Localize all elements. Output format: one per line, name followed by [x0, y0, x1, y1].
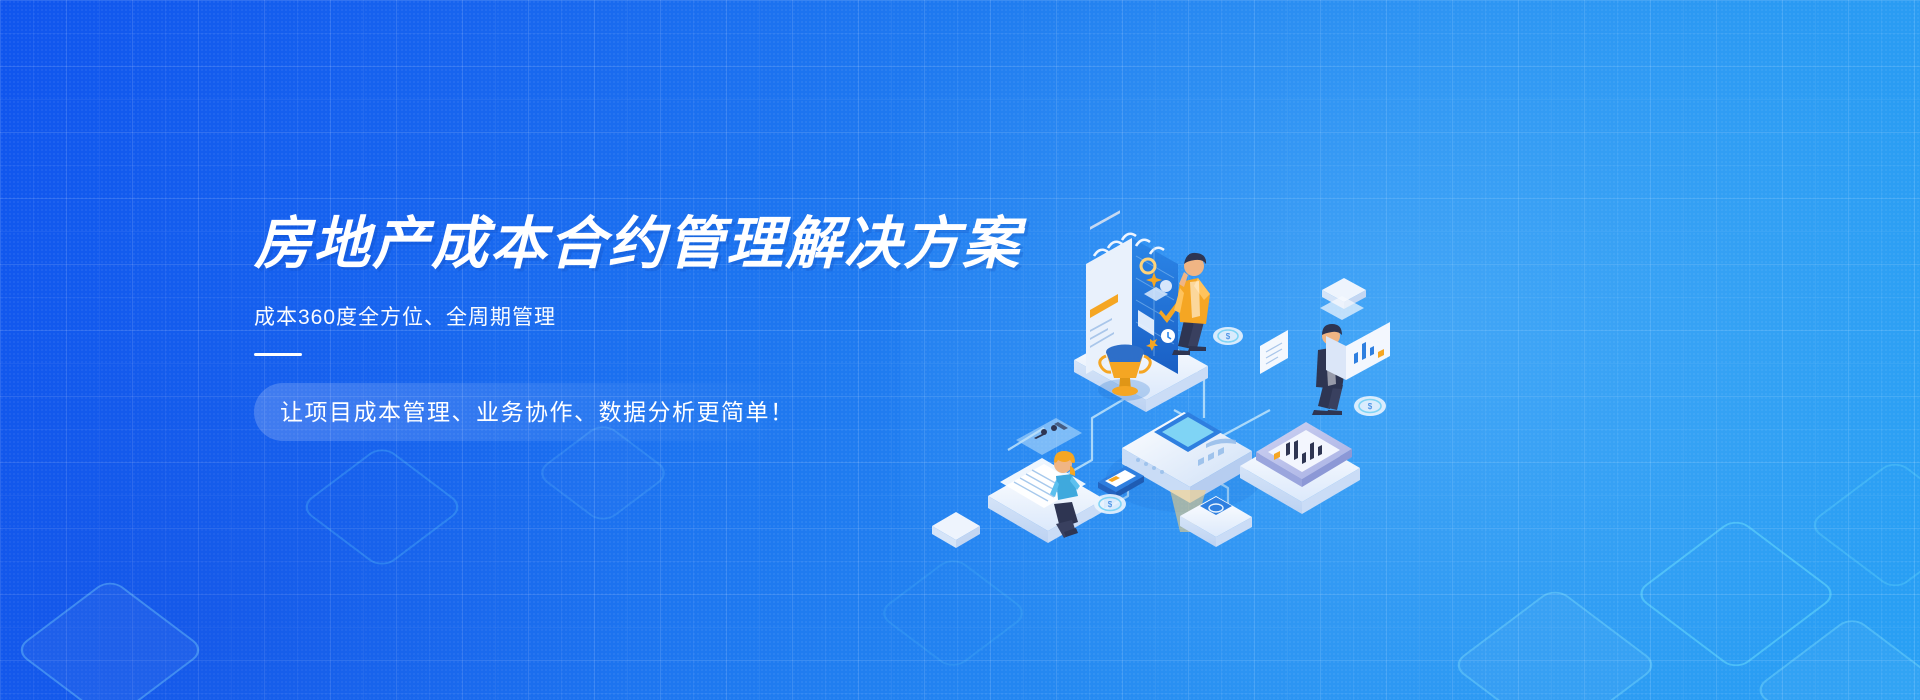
rhombus-icon [1806, 458, 1920, 592]
coin-badge-icon: $ [1094, 494, 1126, 514]
rhombus-icon [1633, 516, 1839, 672]
document-sheet-icon [1260, 330, 1288, 374]
coin-badge-icon: $ [1354, 396, 1386, 416]
rhombus-icon [298, 444, 466, 570]
svg-text:$: $ [1226, 332, 1231, 341]
rhombus-icon [13, 577, 207, 700]
svg-text:$: $ [1368, 402, 1373, 411]
rhombus-icon [1752, 615, 1920, 700]
document-sheet-group [988, 418, 1104, 543]
hero-banner: $ $ $ [0, 0, 1920, 700]
banner-content: 房地产成本合约管理解决方案 成本360度全方位、全周期管理 让项目成本管理、业务… [254, 214, 1014, 430]
rhombus-icon [1450, 586, 1660, 700]
floating-card [932, 512, 980, 548]
page-title: 房地产成本合约管理解决方案 [254, 214, 1014, 274]
chart-panel-group [1240, 422, 1360, 514]
tagline-container: 让项目成本管理、业务协作、数据分析更简单！ [254, 394, 795, 430]
svg-text:$: $ [1108, 500, 1113, 509]
title-divider [254, 353, 302, 356]
page-subtitle: 成本360度全方位、全周期管理 [254, 301, 1014, 331]
tagline-text: 让项目成本管理、业务协作、数据分析更简单！ [254, 394, 795, 430]
coin-badge-icon: $ [1213, 327, 1243, 345]
